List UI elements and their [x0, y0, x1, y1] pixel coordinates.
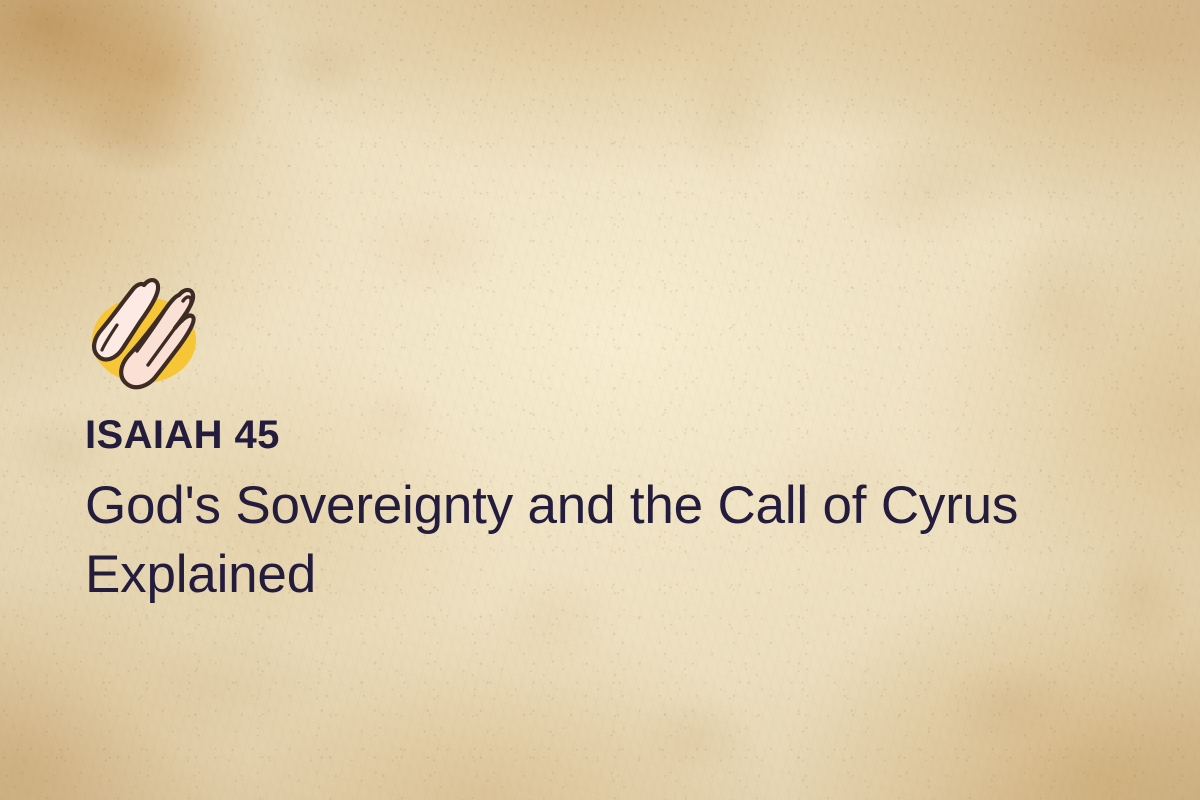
title-card-content: ISAIAH 45 God's Sovereignty and the Call…: [85, 255, 1115, 610]
parchment-title-card: ISAIAH 45 God's Sovereignty and the Call…: [0, 0, 1200, 800]
page-title: God's Sovereignty and the Call of Cyrus …: [85, 472, 1085, 610]
chapter-eyebrow: ISAIAH 45: [85, 413, 1115, 458]
praying-hands-icon-graphic: [87, 255, 205, 395]
praying-hands-icon: [87, 255, 205, 395]
